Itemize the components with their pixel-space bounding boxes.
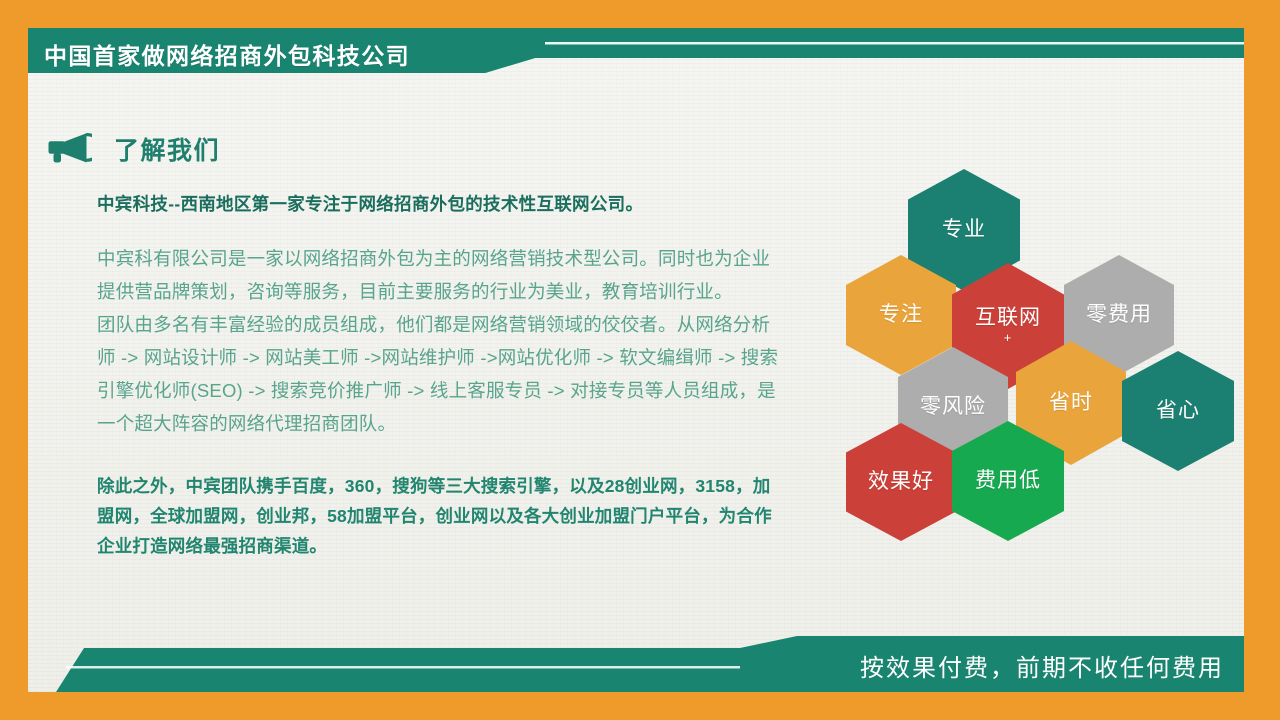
hexagon-sublabel: +	[1004, 331, 1013, 345]
footer-tagline: 按效果付费，前期不收任何费用	[860, 648, 1224, 683]
about-copy: 中宾科技--西南地区第一家专注于网络招商外包的技术性互联网公司。 中宾科有限公司…	[97, 191, 787, 561]
hexagon-label: 专业	[942, 218, 986, 241]
copy-paragraph-1: 中宾科有限公司是一家以网络招商外包为主的网络营销技术型公司。同时也为企业提供营品…	[97, 243, 787, 309]
hexagon-label: 省心	[1156, 399, 1200, 422]
copy-closing: 除此之外，中宾团队携手百度，360，搜狗等三大搜索引擎，以及28创业网，3158…	[97, 471, 787, 561]
section-title: 了解我们	[114, 131, 220, 167]
hexagon-label: 互联网	[975, 306, 1041, 329]
hexagon-label: 效果好	[868, 470, 934, 493]
header-banner: 中国首家做网络招商外包科技公司	[28, 28, 1244, 84]
hexagon-tile: 省心	[1122, 351, 1234, 471]
header-title: 中国首家做网络招商外包科技公司	[44, 37, 410, 71]
copy-paragraph-2: 团队由多名有丰富经验的成员组成，他们都是网络营销领域的佼佼者。从网络分析师 ->…	[97, 309, 787, 441]
frame-band-top	[0, 0, 1280, 28]
megaphone-icon	[46, 131, 92, 167]
copy-lead: 中宾科技--西南地区第一家专注于网络招商外包的技术性互联网公司。	[97, 191, 787, 217]
footer-banner: 按效果付费，前期不收任何费用	[28, 636, 1244, 692]
hexagon-label: 省时	[1049, 391, 1093, 414]
section-heading: 了解我们	[46, 131, 220, 167]
slide-canvas: 中国首家做网络招商外包科技公司 了解我们 中宾科技--西南地区第一家专注于网络招…	[0, 0, 1280, 720]
hexagon-label: 费用低	[975, 469, 1041, 492]
frame-band-left	[0, 0, 28, 720]
hexagon-label: 零费用	[1086, 303, 1152, 326]
hexagon-label: 专注	[879, 303, 923, 326]
hexagon-label: 零风险	[920, 395, 986, 418]
hexagon-keyword-cluster: 专业专注互联网+零费用零风险省时省心效果好费用低	[830, 155, 1244, 540]
frame-band-right	[1244, 0, 1280, 720]
frame-band-bottom	[0, 692, 1280, 720]
